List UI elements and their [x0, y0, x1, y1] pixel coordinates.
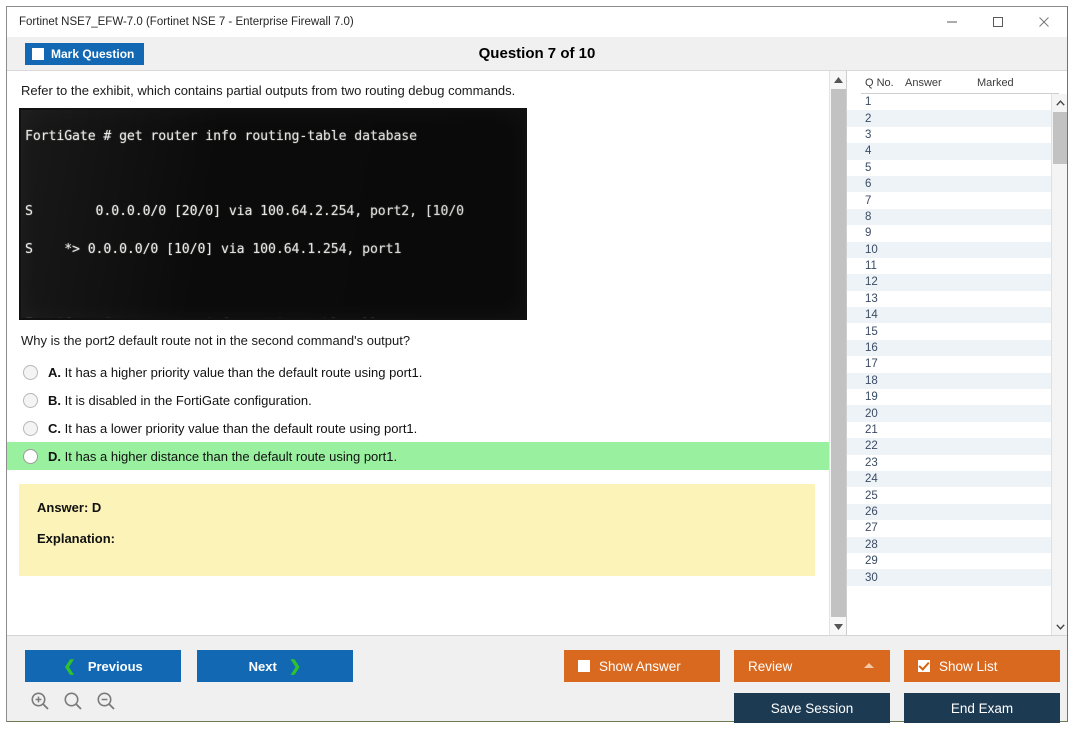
chevron-left-icon: ❮ [63, 657, 76, 675]
exam-window: Fortinet NSE7_EFW-7.0 (Fortinet NSE 7 - … [6, 6, 1068, 722]
row-question-number: 12 [847, 276, 905, 288]
column-header-marked: Marked [977, 77, 1047, 89]
row-question-number: 29 [847, 555, 905, 567]
question-list-header: Q No. Answer Marked [847, 71, 1067, 93]
row-question-number: 14 [847, 309, 905, 321]
row-question-number: 3 [847, 129, 905, 141]
question-list-body: 1234567891011121314151617181920212223242… [847, 94, 1067, 635]
row-question-number: 25 [847, 490, 905, 502]
radio-icon[interactable] [23, 365, 38, 380]
show-answer-label: Show Answer [599, 659, 681, 674]
row-question-number: 10 [847, 244, 905, 256]
table-row[interactable]: 7 [847, 192, 1051, 208]
show-answer-button[interactable]: Show Answer [564, 650, 720, 682]
list-scroll-up-icon[interactable] [1052, 94, 1067, 111]
row-question-number: 17 [847, 358, 905, 370]
column-header-qno: Q No. [847, 77, 905, 89]
terminal-line: FortiGate # get router info routing-tabl… [25, 130, 525, 154]
show-list-label: Show List [939, 659, 998, 674]
table-row[interactable]: 22 [847, 438, 1051, 454]
end-exam-label: End Exam [951, 701, 1013, 716]
table-row[interactable]: 1 [847, 94, 1051, 110]
radio-icon[interactable] [23, 393, 38, 408]
table-row[interactable]: 16 [847, 340, 1051, 356]
column-header-answer: Answer [905, 77, 977, 89]
show-list-checkbox[interactable] [918, 660, 930, 672]
row-question-number: 30 [847, 572, 905, 584]
list-scrollbar-thumb[interactable] [1053, 112, 1067, 164]
answer-options: A. It has a higher priority value than t… [7, 358, 829, 470]
table-row[interactable]: 14 [847, 307, 1051, 323]
table-row[interactable]: 19 [847, 389, 1051, 405]
answer-panel: Answer: D Explanation: [19, 484, 815, 576]
table-row[interactable]: 29 [847, 553, 1051, 569]
row-question-number: 6 [847, 178, 905, 190]
row-question-number: 15 [847, 326, 905, 338]
option-d-text: D. It has a higher distance than the def… [48, 449, 397, 464]
option-c-body: It has a lower priority value than the d… [65, 421, 418, 436]
terminal-line: FortiGate # get router info routing-tabl… [25, 318, 525, 320]
review-label: Review [748, 659, 792, 674]
terminal-line: S 0.0.0.0/0 [20/0] via 100.64.2.254, por… [25, 205, 525, 229]
table-row[interactable]: 18 [847, 373, 1051, 389]
row-question-number: 20 [847, 408, 905, 420]
row-question-number: 27 [847, 522, 905, 534]
show-answer-checkbox[interactable] [578, 660, 590, 672]
row-question-number: 21 [847, 424, 905, 436]
row-question-number: 26 [847, 506, 905, 518]
scroll-down-icon[interactable] [830, 618, 847, 635]
mark-question-label: Mark Question [51, 47, 134, 61]
maximize-icon[interactable] [975, 7, 1021, 37]
row-question-number: 24 [847, 473, 905, 485]
zoom-out-icon[interactable] [95, 690, 117, 712]
option-c-letter: C. [48, 421, 61, 436]
option-d-body: It has a higher distance than the defaul… [65, 449, 397, 464]
row-question-number: 2 [847, 113, 905, 125]
row-question-number: 13 [847, 293, 905, 305]
row-question-number: 28 [847, 539, 905, 551]
table-row[interactable]: 11 [847, 258, 1051, 274]
table-row[interactable]: 30 [847, 569, 1051, 585]
table-row[interactable]: 21 [847, 422, 1051, 438]
footer-toolbar: ❮ Previous Next ❯ Show Answer Review Sho… [7, 635, 1067, 721]
option-b-body: It is disabled in the FortiGate configur… [65, 393, 312, 408]
row-question-number: 11 [847, 260, 905, 272]
row-question-number: 4 [847, 145, 905, 157]
table-row[interactable]: 6 [847, 176, 1051, 192]
minimize-icon[interactable] [929, 7, 975, 37]
terminal-line [25, 168, 525, 192]
question-pane: Refer to the exhibit, which contains par… [7, 71, 829, 635]
next-label: Next [249, 659, 277, 674]
window-controls [929, 7, 1067, 37]
radio-icon[interactable] [23, 421, 38, 436]
save-session-button[interactable]: Save Session [734, 693, 890, 723]
table-row[interactable]: 10 [847, 242, 1051, 258]
row-question-number: 7 [847, 195, 905, 207]
row-question-number: 1 [847, 96, 905, 108]
zoom-in-icon[interactable] [29, 690, 51, 712]
option-c-text: C. It has a lower priority value than th… [48, 421, 417, 436]
option-b-letter: B. [48, 393, 61, 408]
radio-icon[interactable] [23, 449, 38, 464]
row-question-number: 8 [847, 211, 905, 223]
table-row[interactable]: 13 [847, 291, 1051, 307]
chevron-right-icon: ❯ [289, 657, 302, 675]
window-title: Fortinet NSE7_EFW-7.0 (Fortinet NSE 7 - … [7, 16, 354, 28]
question-list-rows: 1234567891011121314151617181920212223242… [847, 94, 1051, 635]
previous-button[interactable]: ❮ Previous [25, 650, 181, 682]
terminal-exhibit-text: FortiGate # get router info routing-tabl… [21, 110, 525, 320]
table-row[interactable]: 9 [847, 225, 1051, 241]
table-row[interactable]: 23 [847, 455, 1051, 471]
list-scroll-down-icon[interactable] [1052, 618, 1067, 635]
mark-question-checkbox[interactable] [32, 48, 44, 60]
row-question-number: 5 [847, 162, 905, 174]
row-question-number: 22 [847, 440, 905, 452]
table-row[interactable]: 20 [847, 405, 1051, 421]
terminal-exhibit-image: FortiGate # get router info routing-tabl… [19, 108, 527, 320]
table-row[interactable]: 26 [847, 504, 1051, 520]
table-row[interactable]: 8 [847, 209, 1051, 225]
option-b-text: B. It is disabled in the FortiGate confi… [48, 393, 312, 408]
option-a-letter: A. [48, 365, 61, 380]
review-dropdown[interactable]: Review [734, 650, 890, 682]
title-bar: Fortinet NSE7_EFW-7.0 (Fortinet NSE 7 - … [7, 7, 1067, 37]
option-d[interactable]: D. It has a higher distance than the def… [7, 442, 829, 470]
next-button[interactable]: Next ❯ [197, 650, 353, 682]
zoom-toolbar [29, 690, 117, 712]
option-b[interactable]: B. It is disabled in the FortiGate confi… [7, 386, 829, 414]
option-d-letter: D. [48, 449, 61, 464]
terminal-line: S *> 0.0.0.0/0 [10/0] via 100.64.1.254, … [25, 243, 525, 267]
option-a-body: It has a higher priority value than the … [65, 365, 423, 380]
table-row[interactable]: 24 [847, 471, 1051, 487]
mark-question-button[interactable]: Mark Question [25, 43, 144, 65]
question-header: Mark Question Question 7 of 10 [7, 37, 1067, 71]
body-area: Refer to the exhibit, which contains par… [7, 71, 1067, 635]
terminal-line [25, 280, 525, 304]
save-session-label: Save Session [771, 701, 854, 716]
table-row[interactable]: 12 [847, 274, 1051, 290]
row-question-number: 23 [847, 457, 905, 469]
end-exam-button[interactable]: End Exam [904, 693, 1060, 723]
page-title: Question 7 of 10 [7, 45, 1067, 62]
table-row[interactable]: 4 [847, 143, 1051, 159]
table-row[interactable]: 15 [847, 323, 1051, 339]
question-prompt: Why is the port2 default route not in th… [7, 320, 829, 358]
list-scrollbar[interactable] [1051, 94, 1067, 635]
main-scrollbar-thumb[interactable] [831, 89, 846, 617]
scroll-up-icon[interactable] [830, 71, 847, 88]
answer-value: Answer: D [37, 500, 797, 515]
zoom-reset-icon[interactable] [62, 690, 84, 712]
option-a-text: A. It has a higher priority value than t… [48, 365, 422, 380]
explanation-label: Explanation: [37, 531, 797, 546]
option-c[interactable]: C. It has a lower priority value than th… [7, 414, 829, 442]
row-question-number: 9 [847, 227, 905, 239]
table-row[interactable]: 25 [847, 487, 1051, 503]
chevron-up-icon [864, 663, 874, 668]
table-row[interactable]: 3 [847, 127, 1051, 143]
table-row[interactable]: 17 [847, 356, 1051, 372]
show-list-button[interactable]: Show List [904, 650, 1060, 682]
question-intro: Refer to the exhibit, which contains par… [7, 83, 829, 106]
row-question-number: 16 [847, 342, 905, 354]
question-list-pane: Q No. Answer Marked 12345678910111213141… [846, 71, 1067, 635]
close-icon[interactable] [1021, 7, 1067, 37]
table-row[interactable]: 5 [847, 160, 1051, 176]
main-scrollbar[interactable] [829, 71, 846, 635]
table-row[interactable]: 28 [847, 537, 1051, 553]
previous-label: Previous [88, 659, 143, 674]
table-row[interactable]: 2 [847, 110, 1051, 126]
table-row[interactable]: 27 [847, 520, 1051, 536]
row-question-number: 19 [847, 391, 905, 403]
row-question-number: 18 [847, 375, 905, 387]
option-a[interactable]: A. It has a higher priority value than t… [7, 358, 829, 386]
